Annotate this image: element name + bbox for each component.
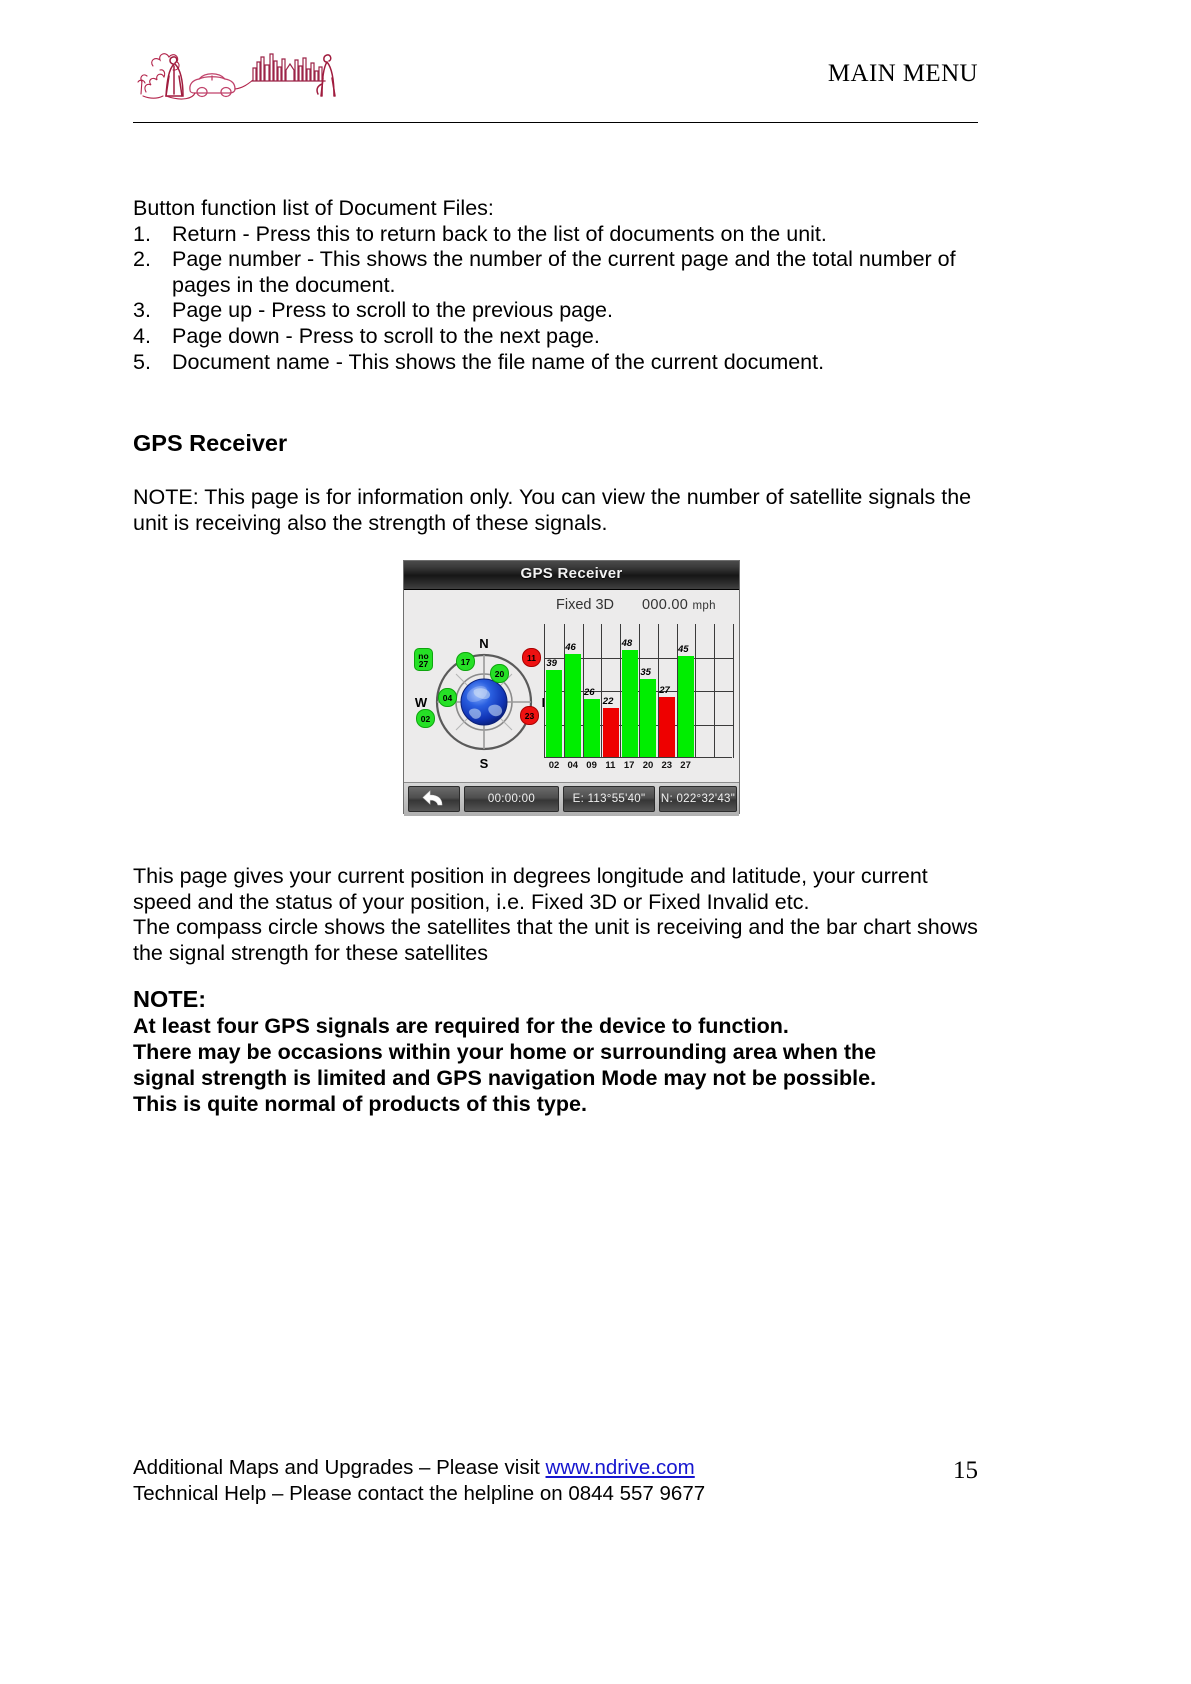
footer-line-1: Additional Maps and Upgrades – Please vi… — [133, 1455, 978, 1481]
list-item: 1. Return - Press this to return back to… — [133, 222, 981, 248]
chart-x-tick-label: 20 — [638, 760, 658, 771]
chart-bar-value-label: 22 — [603, 697, 614, 707]
satellite-badge: 20 — [490, 664, 509, 683]
chart-bar: 26 — [584, 623, 600, 757]
chart-x-tick-label: 09 — [582, 760, 602, 771]
intro-text: Button function list of Document Files: — [133, 196, 981, 222]
status-row: Fixed 3D 000.00 mph — [404, 597, 739, 619]
speed-unit: mph — [693, 600, 716, 612]
page-title: MAIN MENU — [828, 60, 978, 88]
gps-receiver-screenshot: GPS Receiver Fixed 3D 000.00 mph — [403, 560, 740, 814]
ndrive-website-link[interactable]: www.ndrive.com — [546, 1456, 695, 1479]
chart-bar-fill — [640, 679, 656, 757]
chart-bar: 27 — [659, 623, 675, 757]
chart-bar-fill — [584, 699, 600, 757]
svg-text:S: S — [480, 756, 489, 771]
description-paragraph-2: The compass circle shows the satellites … — [133, 915, 981, 966]
satellite-badge: 04 — [438, 688, 457, 707]
list-item-text: Document name - This shows the file name… — [172, 350, 824, 374]
speed-value: 000.00 — [642, 597, 688, 613]
list-item-text: Page down - Press to scroll to the next … — [172, 324, 600, 348]
note-line: At least four GPS signals are required f… — [133, 1014, 981, 1040]
chart-bar-fill — [678, 656, 694, 757]
list-item-text: Page up - Press to scroll to the previou… — [172, 298, 613, 322]
satellite-badge-id: 27 — [419, 660, 428, 668]
trip-time-display[interactable]: 00:00:00 — [464, 786, 559, 812]
note-line: There may be occasions within your home … — [133, 1040, 981, 1066]
chart-bar-value-label: 46 — [565, 643, 576, 653]
note-heading: NOTE: — [133, 984, 981, 1014]
signal-strength-bar-chart: 3946262248352745 0204091117202327 — [544, 624, 736, 779]
chart-bar-value-label: 35 — [640, 668, 651, 678]
chart-bar-value-label: 27 — [659, 686, 670, 696]
svg-text:N: N — [479, 636, 488, 651]
chart-x-tick-label: 17 — [619, 760, 639, 771]
list-item: 4. Page down - Press to scroll to the ne… — [133, 324, 981, 350]
list-item-text: Page number - This shows the number of t… — [172, 247, 956, 297]
longitude-display[interactable]: E: 113°55'40" — [563, 786, 655, 812]
satellite-badge: 02 — [416, 709, 435, 728]
chart-x-tick-label: 11 — [600, 760, 620, 771]
chart-bar-fill — [622, 650, 638, 757]
list-item-number: 1. — [133, 222, 163, 248]
device-title: GPS Receiver — [404, 565, 739, 582]
chart-bar-value-label: 39 — [546, 659, 557, 669]
chart-gridline-vertical — [733, 624, 734, 758]
return-arrow-icon — [421, 790, 447, 808]
footer-line-2: Technical Help – Please contact the help… — [133, 1481, 978, 1507]
note-line: This is quite normal of products of this… — [133, 1092, 981, 1118]
device-toolbar: 00:00:00 E: 113°55'40" N: 022°32'43" — [404, 782, 739, 816]
list-item-number: 2. — [133, 247, 163, 273]
chart-bar-fill — [659, 697, 675, 757]
page-header: MAIN MENU — [133, 34, 978, 122]
chart-bar: 35 — [640, 623, 656, 757]
device-screen-body: Fixed 3D 000.00 mph — [404, 590, 739, 782]
return-button[interactable] — [408, 786, 460, 812]
chart-bar-value-label: 45 — [678, 645, 689, 655]
list-item: 3. Page up - Press to scroll to the prev… — [133, 298, 981, 324]
chart-bar-value-label: 48 — [622, 639, 633, 649]
page-number: 15 — [953, 1457, 978, 1485]
list-item-number: 3. — [133, 298, 163, 324]
fix-status-label: Fixed 3D — [556, 597, 614, 613]
chart-bar: 22 — [603, 623, 619, 757]
list-item: 2. Page number - This shows the number o… — [133, 247, 981, 298]
list-item-number: 4. — [133, 324, 163, 350]
svg-text:W: W — [415, 695, 428, 710]
footer-text-maps: Additional Maps and Upgrades – Please vi… — [133, 1456, 546, 1479]
lower-content: This page gives your current position in… — [133, 864, 981, 1118]
document-page: MAIN MENU Button function list of Docume… — [0, 0, 1191, 1684]
note-paragraph: NOTE: This page is for information only.… — [133, 485, 981, 536]
chart-x-tick-label: 04 — [563, 760, 583, 771]
chart-x-tick-label: 02 — [544, 760, 564, 771]
speed-display: 000.00 mph — [642, 597, 716, 613]
header-divider — [133, 122, 978, 123]
chart-bar: 45 — [678, 623, 694, 757]
list-item: 5. Document name - This shows the file n… — [133, 350, 981, 376]
main-content: Button function list of Document Files: … — [133, 196, 981, 536]
bar-chart-plot-area: 3946262248352745 — [544, 624, 732, 758]
chart-bar-value-label: 26 — [584, 688, 595, 698]
note-line: signal strength is limited and GPS navig… — [133, 1066, 981, 1092]
button-function-list: 1. Return - Press this to return back to… — [133, 222, 981, 376]
chart-x-tick-label: 23 — [657, 760, 677, 771]
satellite-badge: 11 — [522, 648, 541, 667]
chart-bar: 39 — [546, 623, 562, 757]
chart-x-tick-label: 27 — [676, 760, 696, 771]
ndrive-logo — [133, 36, 343, 108]
latitude-display[interactable]: N: 022°32'43" — [659, 786, 737, 812]
bar-chart-x-axis-labels: 0204091117202327 — [544, 760, 732, 774]
device-titlebar: GPS Receiver — [404, 561, 739, 590]
list-item-number: 5. — [133, 350, 163, 376]
chart-bar: 46 — [565, 623, 581, 757]
satellite-badge: no 27 — [414, 648, 433, 671]
chart-bar: 48 — [622, 623, 638, 757]
satellite-badge: 17 — [456, 652, 475, 671]
section-heading-gps-receiver: GPS Receiver — [133, 429, 981, 457]
satellite-badge: 23 — [520, 706, 539, 725]
list-item-text: Return - Press this to return back to th… — [172, 222, 827, 246]
chart-bar-fill — [565, 654, 581, 757]
description-paragraph-1: This page gives your current position in… — [133, 864, 981, 915]
page-footer: Additional Maps and Upgrades – Please vi… — [133, 1455, 978, 1507]
satellite-skyplot: N S E W no 27 17 11 20 04 02 23 — [410, 626, 558, 774]
chart-bar-fill — [546, 670, 562, 757]
note-body: At least four GPS signals are required f… — [133, 1014, 981, 1117]
chart-bar-fill — [603, 708, 619, 757]
